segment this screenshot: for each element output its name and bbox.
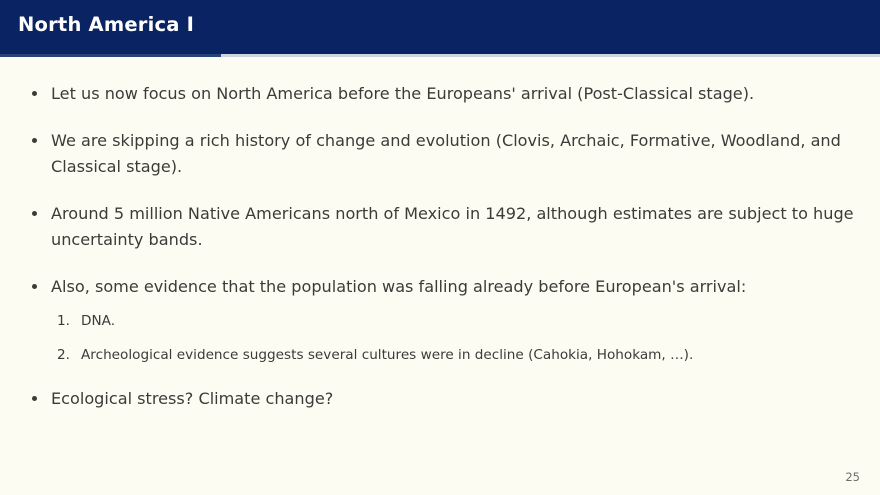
subitem-marker-2: 2.: [57, 345, 70, 365]
page-number: 25: [845, 470, 860, 484]
bullet-dot-icon: [32, 284, 37, 289]
bullet-text-4: Also, some evidence that the population …: [51, 274, 858, 300]
slide-header-bar: North America I: [0, 0, 880, 54]
bullet-item-1: Let us now focus on North America before…: [22, 81, 858, 107]
subitem-1: 1. DNA.: [51, 311, 858, 331]
slide-body: Let us now focus on North America before…: [0, 57, 880, 495]
subitem-text-1: DNA.: [81, 313, 115, 329]
slide-title: North America I: [18, 13, 194, 36]
bullet-item-5: Ecological stress? Climate change?: [22, 386, 858, 412]
subitem-text-2: Archeological evidence suggests several …: [81, 347, 693, 363]
bullet-dot-icon: [32, 396, 37, 401]
bullet-dot-icon: [32, 138, 37, 143]
bullet-text-5: Ecological stress? Climate change?: [51, 386, 858, 412]
bullet-text-2: We are skipping a rich history of change…: [51, 128, 858, 180]
bullet-text-1: Let us now focus on North America before…: [51, 81, 858, 107]
bullet-item-2: We are skipping a rich history of change…: [22, 128, 858, 180]
numbered-subitem-list: 1. DNA. 2. Archeological evidence sugges…: [51, 311, 858, 365]
bullet-dot-icon: [32, 211, 37, 216]
bullet-text-3: Around 5 million Native Americans north …: [51, 201, 858, 253]
bullet-list: Let us now focus on North America before…: [22, 81, 858, 412]
subitem-marker-1: 1.: [57, 311, 70, 331]
subitem-2: 2. Archeological evidence suggests sever…: [51, 345, 858, 365]
bullet-dot-icon: [32, 91, 37, 96]
presentation-slide: North America I Let us now focus on Nort…: [0, 0, 880, 495]
bullet-item-4: Also, some evidence that the population …: [22, 274, 858, 365]
bullet-item-3: Around 5 million Native Americans north …: [22, 201, 858, 253]
